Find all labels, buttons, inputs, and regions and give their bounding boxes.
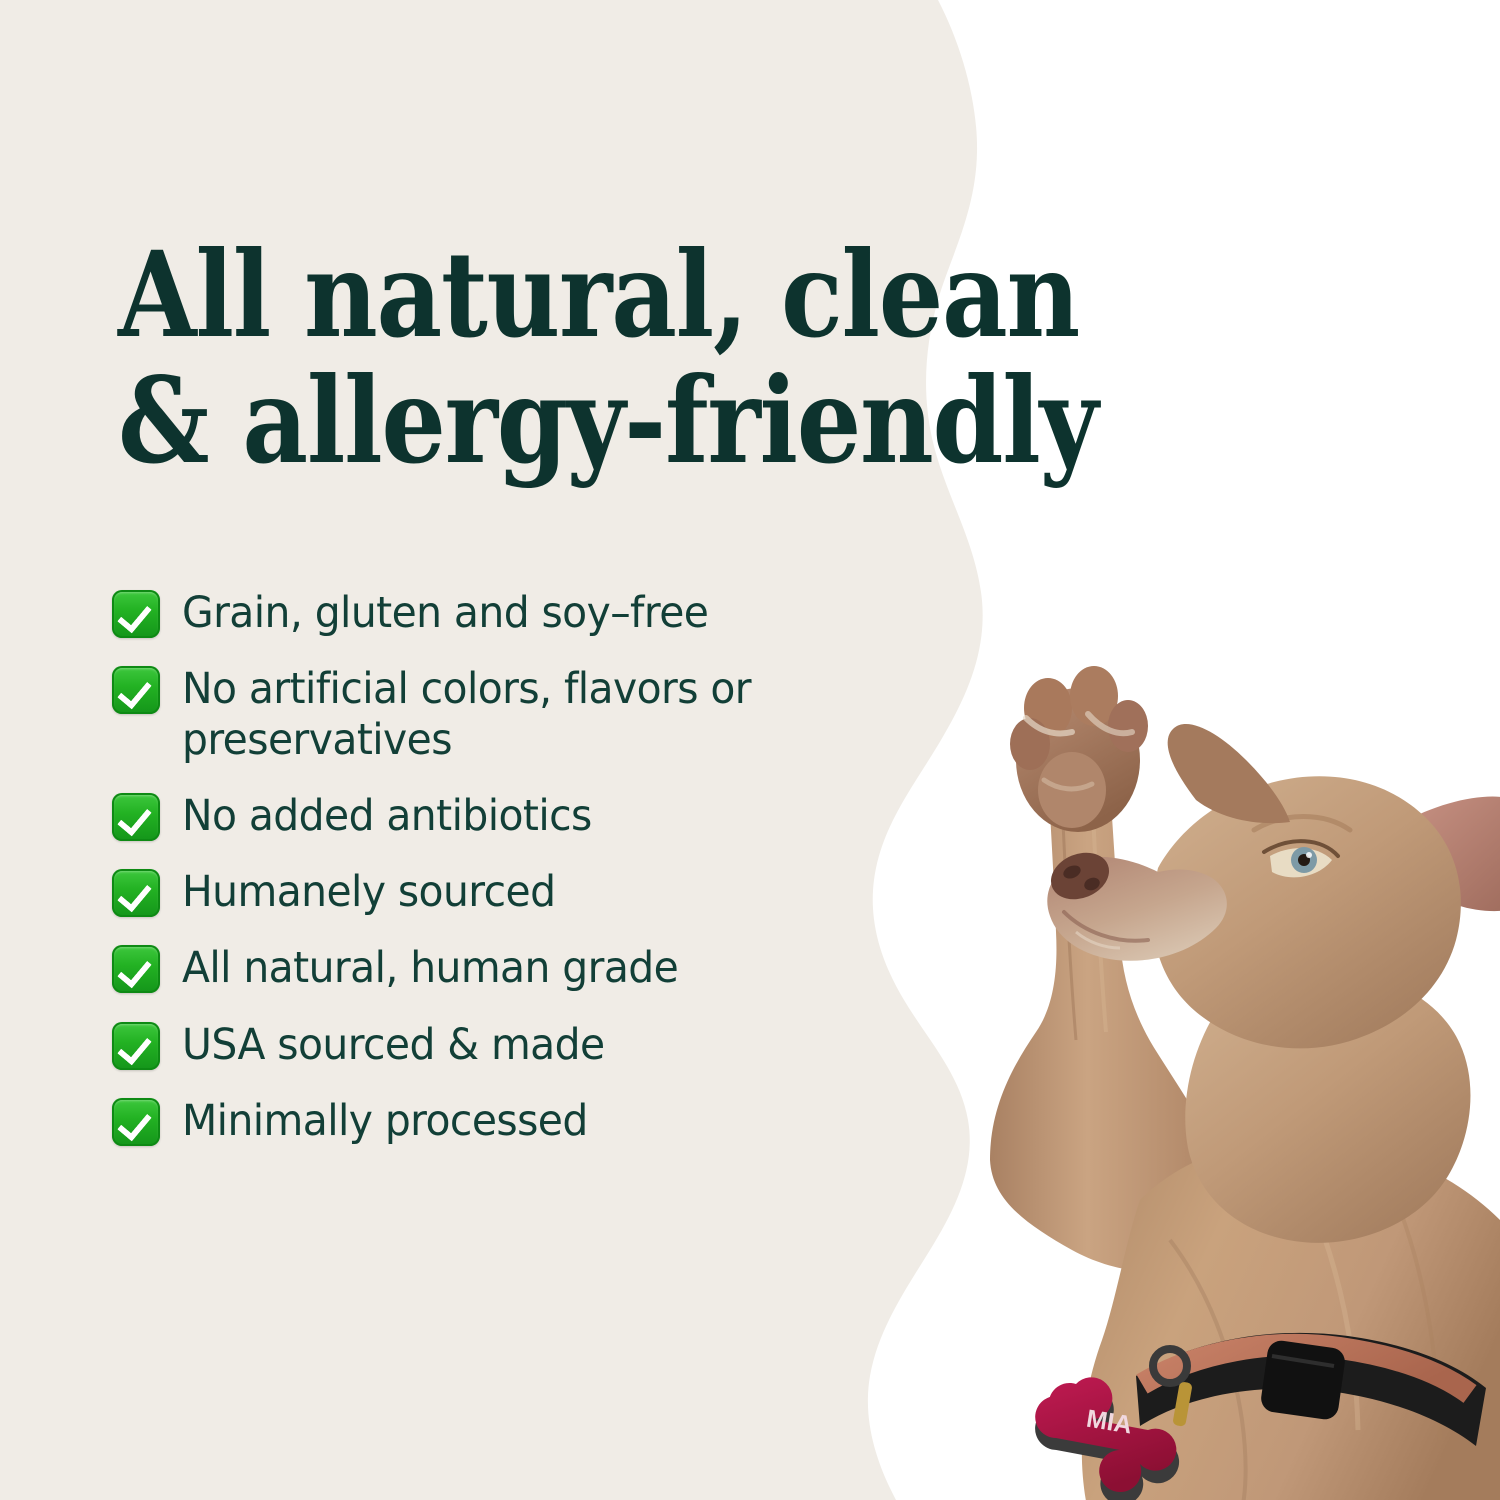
dog-paw [1010, 666, 1148, 832]
check-square-icon [112, 1098, 160, 1146]
page-headline: All natural, clean & allergy-friendly [118, 237, 1227, 478]
benefit-label: No artificial colors, flavors or preserv… [182, 664, 885, 765]
check-square-icon [112, 945, 160, 993]
list-item: Humanely sourced [112, 867, 922, 917]
benefit-label: No added antibiotics [182, 791, 592, 841]
dog-ear-near [1168, 724, 1290, 823]
list-item: USA sourced & made [112, 1020, 922, 1070]
benefit-label: USA sourced & made [182, 1020, 605, 1070]
list-item: No artificial colors, flavors or preserv… [112, 664, 922, 765]
headline-line-2: & allergy-friendly [118, 363, 1227, 479]
check-square-icon [112, 1022, 160, 1070]
check-square-icon [112, 869, 160, 917]
headline-line-1: All natural, clean [118, 237, 1227, 353]
check-square-icon [112, 793, 160, 841]
list-item: No added antibiotics [112, 791, 922, 841]
benefit-label: Humanely sourced [182, 867, 555, 917]
benefit-label: All natural, human grade [182, 943, 678, 993]
check-square-icon [112, 666, 160, 714]
benefit-label: Minimally processed [182, 1096, 588, 1146]
benefits-list: Grain, gluten and soy–free No artificial… [112, 588, 922, 1146]
list-item: Grain, gluten and soy–free [112, 588, 922, 638]
list-item: Minimally processed [112, 1096, 922, 1146]
check-square-icon [112, 590, 160, 638]
dog-photo: MIA [840, 640, 1500, 1500]
benefit-label: Grain, gluten and soy–free [182, 588, 708, 638]
promo-graphic: All natural, clean & allergy-friendly Gr… [0, 0, 1500, 1500]
list-item: All natural, human grade [112, 943, 922, 993]
